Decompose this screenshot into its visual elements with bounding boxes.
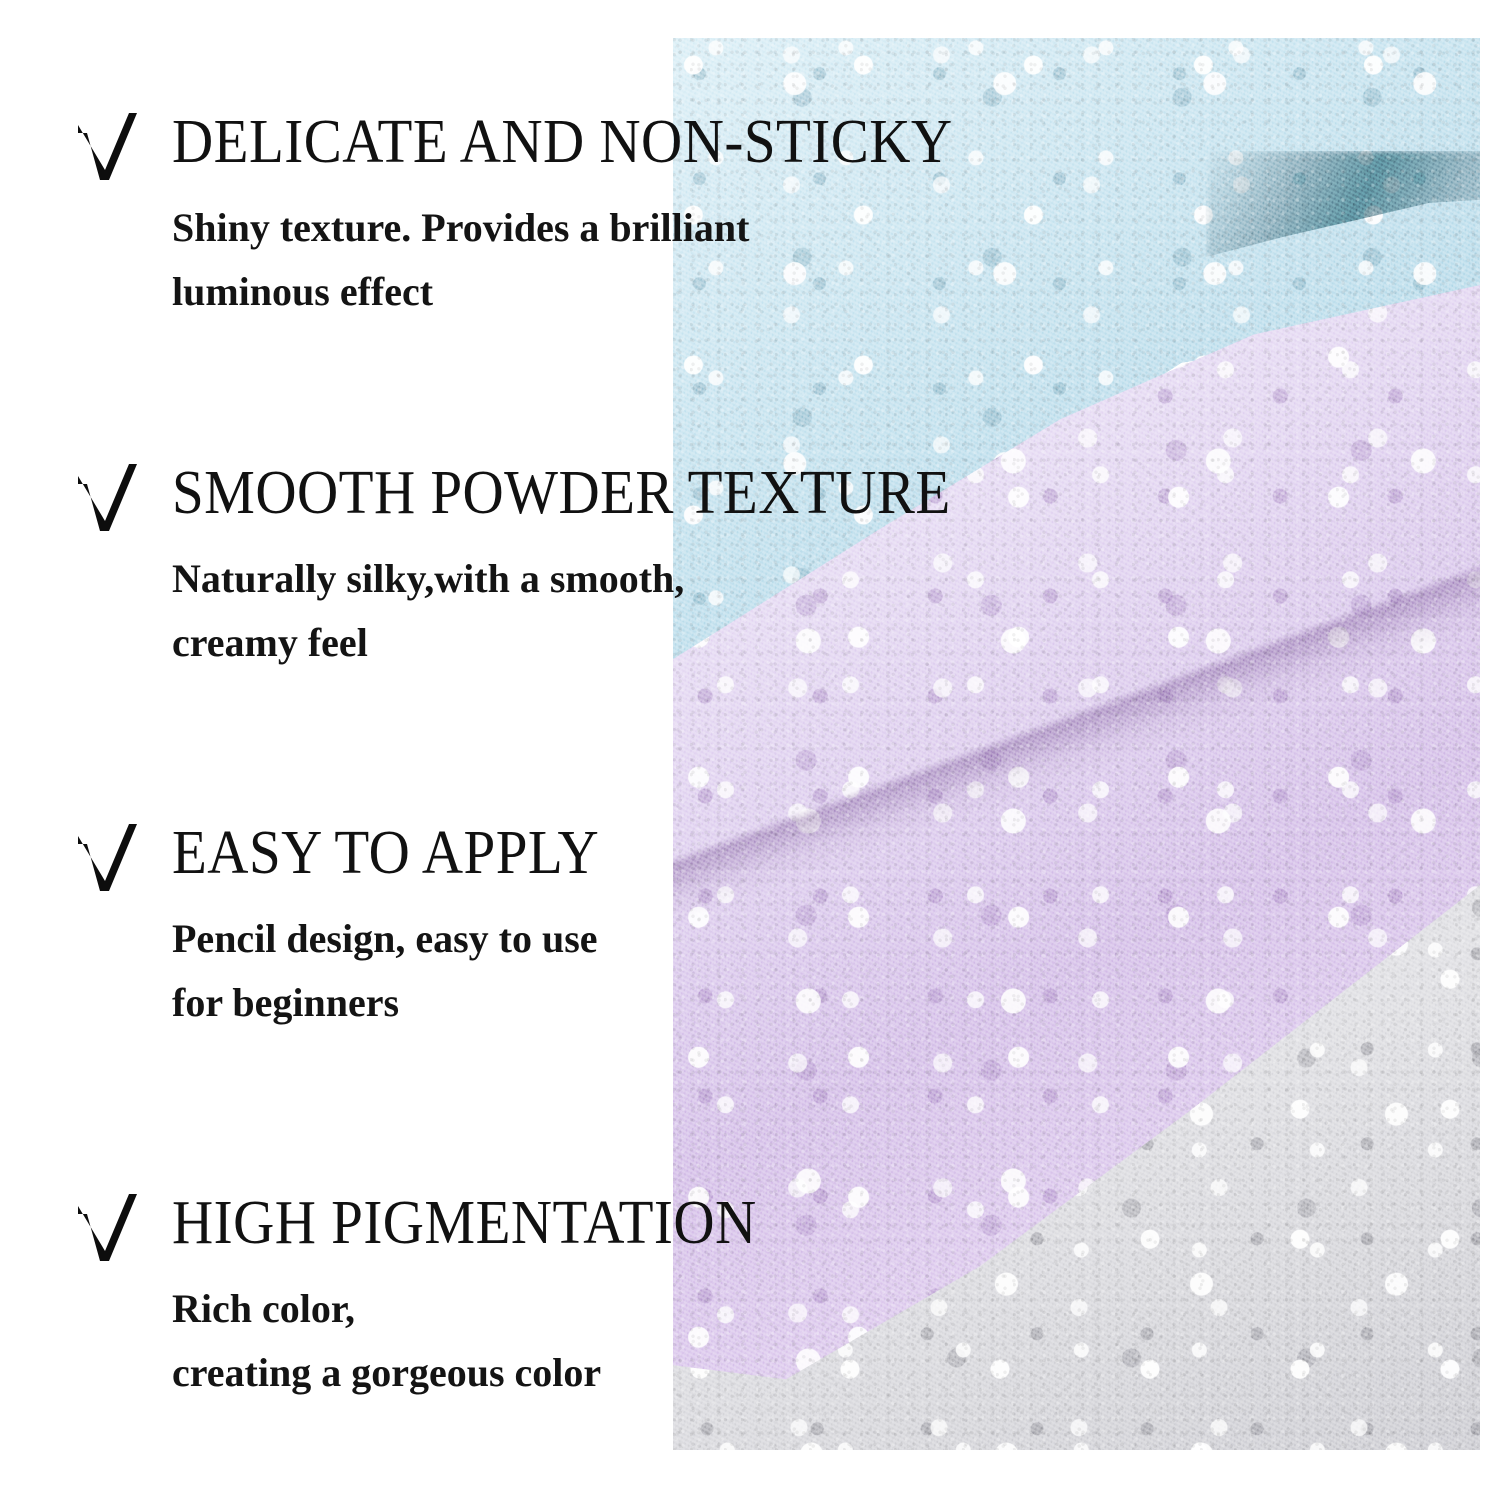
feature-header: DELICATE AND NON-STICKY [0,104,680,190]
check-radical-icon [76,461,140,535]
feature-description: Naturally silky,with a smooth, creamy fe… [172,547,872,675]
feature-item: HIGH PIGMENTATION Rich color, creating a… [0,1185,680,1271]
feature-item: SMOOTH POWDER TEXTURE Naturally silky,wi… [0,455,680,541]
check-radical-icon [76,1191,140,1265]
feature-description: Rich color, creating a gorgeous color [172,1277,872,1405]
feature-item: EASY TO APPLY Pencil design, easy to use… [0,815,680,901]
feature-description: Pencil design, easy to use for beginners [172,907,872,1035]
feature-title: SMOOTH POWDER TEXTURE [172,455,951,531]
feature-list: DELICATE AND NON-STICKY Shiny texture. P… [0,0,680,1500]
feature-header: SMOOTH POWDER TEXTURE [0,455,680,541]
feature-item: DELICATE AND NON-STICKY Shiny texture. P… [0,104,680,190]
feature-title: DELICATE AND NON-STICKY [172,104,953,180]
check-radical-icon [76,110,140,184]
feature-header: EASY TO APPLY [0,815,680,901]
feature-header: HIGH PIGMENTATION [0,1185,680,1271]
check-radical-icon [76,821,140,895]
feature-title: HIGH PIGMENTATION [172,1185,757,1261]
feature-highlight-page: DELICATE AND NON-STICKY Shiny texture. P… [0,0,1500,1500]
feature-title: EASY TO APPLY [172,815,599,891]
feature-description: Shiny texture. Provides a brilliant lumi… [172,196,872,324]
